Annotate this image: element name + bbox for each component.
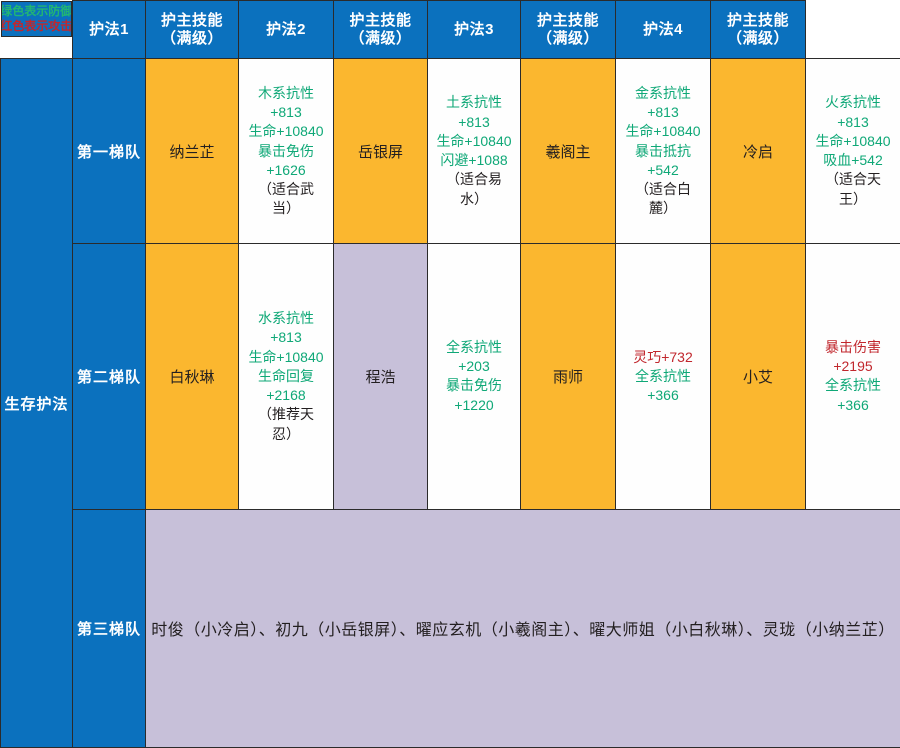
skill-note-line: 当） [242,199,330,218]
skill-text-block: 火系抗性 +813 生命+10840 吸血+542 （适合天 王） [809,93,897,209]
skill-line: 生命+10840 [242,122,330,141]
unit-name-cell[interactable]: 冷启 [711,59,806,244]
unit-skill-cell: 金系抗性 +813 生命+10840 暴击抵抗 +542 （适合白 麓） [616,59,711,244]
unit-name-cell[interactable]: 岳银屏 [334,59,428,244]
column-header-label: 护法3 [454,21,494,38]
unit-name: 纳兰芷 [169,144,214,161]
skill-line: +813 [809,113,897,132]
unit-name: 岳银屏 [358,144,403,161]
table-row: 第二梯队 白秋琳 水系抗性 +813 生命+10840 生命回复 +2168 （… [1,244,900,509]
unit-skill-cell: 火系抗性 +813 生命+10840 吸血+542 （适合天 王） [806,59,900,244]
column-header-label: 护法4 [643,21,683,38]
skill-line: 暴击免伤 [431,376,517,395]
skill-text-block: 灵巧+732 全系抗性 +366 [619,348,707,406]
skill-line: +366 [619,386,707,405]
unit-name: 白秋琳 [169,369,214,386]
unit-skill-cell: 暴击伤害 +2195 全系抗性 +366 [806,244,900,509]
unit-name-cell[interactable]: 小艾 [711,244,806,509]
table-row: 生存护法 第一梯队 纳兰芷 木系抗性 +813 生命+10840 暴击免伤 +1… [1,59,900,244]
skill-line: +813 [619,103,707,122]
skill-line: +1626 [242,161,330,180]
column-header-skill-4: 护主技能 （满级） [711,1,806,59]
column-header-skill-2: 护主技能 （满级） [334,1,428,59]
unit-skill-cell: 全系抗性 +203 暴击免伤 +1220 [428,244,521,509]
skill-line: 生命+10840 [431,132,517,151]
column-header-guardian-3: 护法3 [428,1,521,59]
skill-line: 吸血+542 [809,151,897,170]
skill-text-block: 全系抗性 +203 暴击免伤 +1220 [431,338,517,415]
column-header-label: 护主技能 [349,12,411,29]
column-header-label: 护法2 [266,21,306,38]
skill-note-line: （适合天 [809,170,897,189]
skill-text-block: 木系抗性 +813 生命+10840 暴击免伤 +1626 （适合武 当） [242,84,330,219]
skill-line: 暴击免伤 [242,142,330,161]
table-row: 第三梯队 时俊（小冷启）、初九（小岳银屏）、曜应玄机（小羲阁主）、曜大师姐（小白… [1,509,900,747]
tier-3-roster-text: 时俊（小冷启）、初九（小岳银屏）、曜应玄机（小羲阁主）、曜大师姐（小白秋琳）、灵… [151,622,895,639]
skill-note-line: 水） [431,190,517,209]
column-header-guardian-1: 护法1 [73,1,146,59]
skill-note-line: 忍） [242,425,330,444]
skill-note-line: 王） [809,190,897,209]
unit-name-cell[interactable]: 羲阁主 [521,59,616,244]
skill-note-line: （适合武 [242,180,330,199]
column-header-label: 护法1 [89,21,129,38]
skill-line: +203 [431,357,517,376]
skill-line: 土系抗性 [431,93,517,112]
unit-name-cell[interactable]: 程浩 [334,244,428,509]
column-header-label: 护主技能 [727,12,789,29]
table-header-row: 绿色表示防御 红色表示攻击 护法1 护主技能 （满级） 护法2 护主技能 （满级… [1,1,900,59]
unit-skill-cell: 灵巧+732 全系抗性 +366 [616,244,711,509]
tier-label-cell-2: 第二梯队 [73,244,146,509]
unit-name-cell[interactable]: 雨师 [521,244,616,509]
tier-3-roster-note: 时俊（小冷启）、初九（小岳银屏）、曜应玄机（小羲阁主）、曜大师姐（小白秋琳）、灵… [146,509,900,747]
unit-name-cell[interactable]: 白秋琳 [146,244,239,509]
unit-name: 小艾 [743,369,773,386]
legend-cell: 绿色表示防御 红色表示攻击 [1,1,73,37]
skill-note-line: （适合易 [431,170,517,189]
skill-line: +813 [242,328,330,347]
unit-skill-cell: 木系抗性 +813 生命+10840 暴击免伤 +1626 （适合武 当） [239,59,334,244]
skill-text-block: 金系抗性 +813 生命+10840 暴击抵抗 +542 （适合白 麓） [619,84,707,219]
legend-attack-label: 红色表示攻击 [1,19,73,34]
skill-line: 全系抗性 [809,376,897,395]
skill-line: 生命回复 [242,367,330,386]
unit-name: 雨师 [553,369,583,386]
column-header-skill-3: 护主技能 （满级） [521,1,616,59]
skill-line: 全系抗性 [431,338,517,357]
skill-line: 木系抗性 [242,84,330,103]
column-header-guardian-2: 护法2 [239,1,334,59]
skill-line: +813 [242,103,330,122]
skill-line: 火系抗性 [809,93,897,112]
skill-line-attack: +2195 [809,357,897,376]
unit-skill-cell: 水系抗性 +813 生命+10840 生命回复 +2168 （推荐天 忍） [239,244,334,509]
skill-line: 生命+10840 [809,132,897,151]
skill-text-block: 暴击伤害 +2195 全系抗性 +366 [809,338,897,415]
tier-list-table-sheet: 绿色表示防御 红色表示攻击 护法1 护主技能 （满级） 护法2 护主技能 （满级… [0,0,900,748]
skill-note-line: （适合白 [619,180,707,199]
unit-name-cell[interactable]: 纳兰芷 [146,59,239,244]
side-category-label: 生存护法 [1,59,73,748]
skill-line: 全系抗性 [619,367,707,386]
skill-line: +366 [809,396,897,415]
skill-line: 生命+10840 [619,122,707,141]
skill-line: +2168 [242,386,330,405]
legend-defense-label: 绿色表示防御 [1,4,73,19]
skill-line: +542 [619,161,707,180]
guardian-tier-table: 绿色表示防御 红色表示攻击 护法1 护主技能 （满级） 护法2 护主技能 （满级… [0,0,900,748]
skill-text-block: 土系抗性 +813 生命+10840 闪避+1088 （适合易 水） [431,93,517,209]
unit-name: 冷启 [743,144,773,161]
column-header-label: 护主技能 [161,12,223,29]
column-header-label: 护主技能 [537,12,599,29]
unit-skill-cell: 土系抗性 +813 生命+10840 闪避+1088 （适合易 水） [428,59,521,244]
unit-name: 程浩 [365,369,395,386]
skill-line: +1220 [431,396,517,415]
column-header-skill-1: 护主技能 （满级） [146,1,239,59]
skill-line: 水系抗性 [242,309,330,328]
skill-note-line: （推荐天 [242,405,330,424]
skill-text-block: 水系抗性 +813 生命+10840 生命回复 +2168 （推荐天 忍） [242,309,330,444]
unit-name: 羲阁主 [545,144,590,161]
column-header-sublabel: （满级） [524,30,612,48]
column-header-sublabel: （满级） [714,30,802,48]
column-header-guardian-4: 护法4 [616,1,711,59]
skill-line: 金系抗性 [619,84,707,103]
skill-line: 闪避+1088 [431,151,517,170]
skill-line: 生命+10840 [242,348,330,367]
skill-line: 暴击抵抗 [619,142,707,161]
tier-label-cell-3: 第三梯队 [73,509,146,747]
skill-note-line: 麓） [619,199,707,218]
column-header-sublabel: （满级） [337,30,424,48]
skill-line-attack: 灵巧+732 [619,348,707,367]
skill-line: +813 [431,113,517,132]
skill-line-attack: 暴击伤害 [809,338,897,357]
column-header-sublabel: （满级） [149,30,235,48]
tier-label-cell-1: 第一梯队 [73,59,146,244]
